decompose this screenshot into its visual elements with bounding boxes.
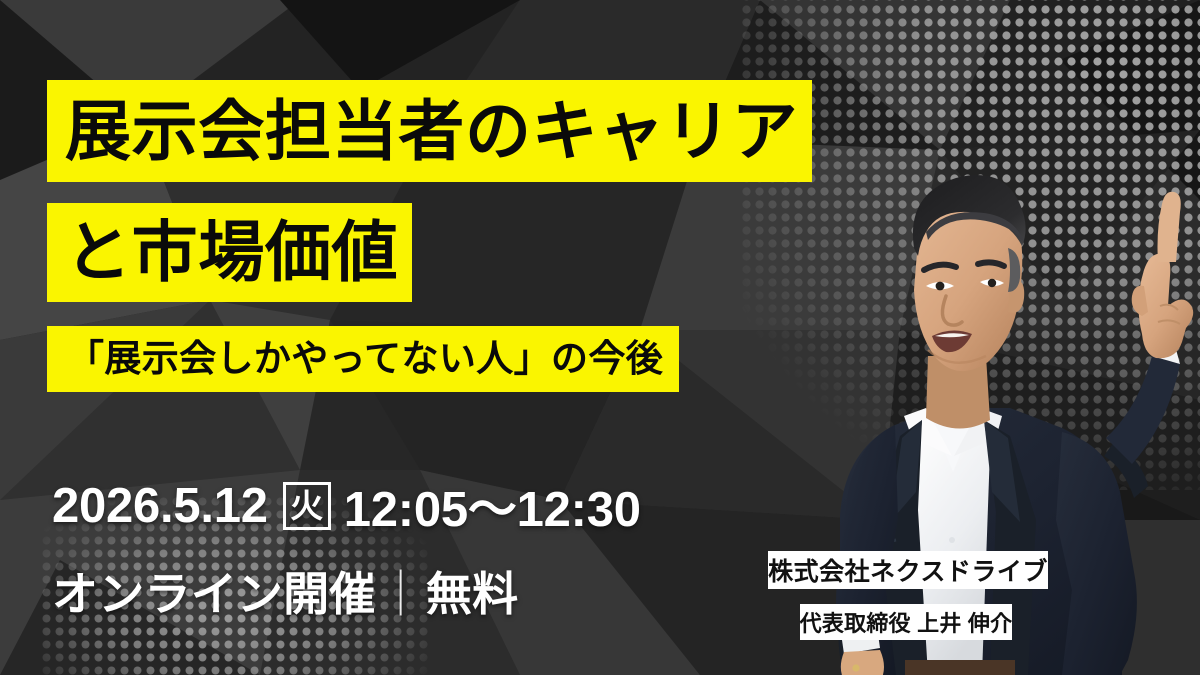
speaker-company-plate: 株式会社ネクスドライブ <box>768 551 1048 589</box>
headline-line-1: 展示会担当者のキャリア <box>47 80 812 182</box>
event-date: 2026.5.12 <box>52 478 268 534</box>
speaker-photo <box>690 120 1200 675</box>
format-divider: ｜ <box>376 568 426 620</box>
headline-line-2: と市場価値 <box>47 203 412 302</box>
event-weekday-badge: 火 <box>283 482 331 530</box>
headline-subtitle: 「展示会しかやってない人」の今後 <box>47 326 679 392</box>
event-datetime: 2026.5.12 火 12:05〜12:30 <box>52 470 641 541</box>
event-format: オンライン開催 <box>52 568 376 620</box>
event-format-line: オンライン開催｜無料 <box>52 558 518 624</box>
event-price: 無料 <box>426 568 518 620</box>
event-time-range: 12:05〜12:30 <box>344 470 641 541</box>
speaker-name-plate: 代表取締役 上井 伸介 <box>800 604 1012 640</box>
webinar-banner: 展示会担当者のキャリア と市場価値 「展示会しかやってない人」の今後 2026.… <box>0 0 1200 675</box>
